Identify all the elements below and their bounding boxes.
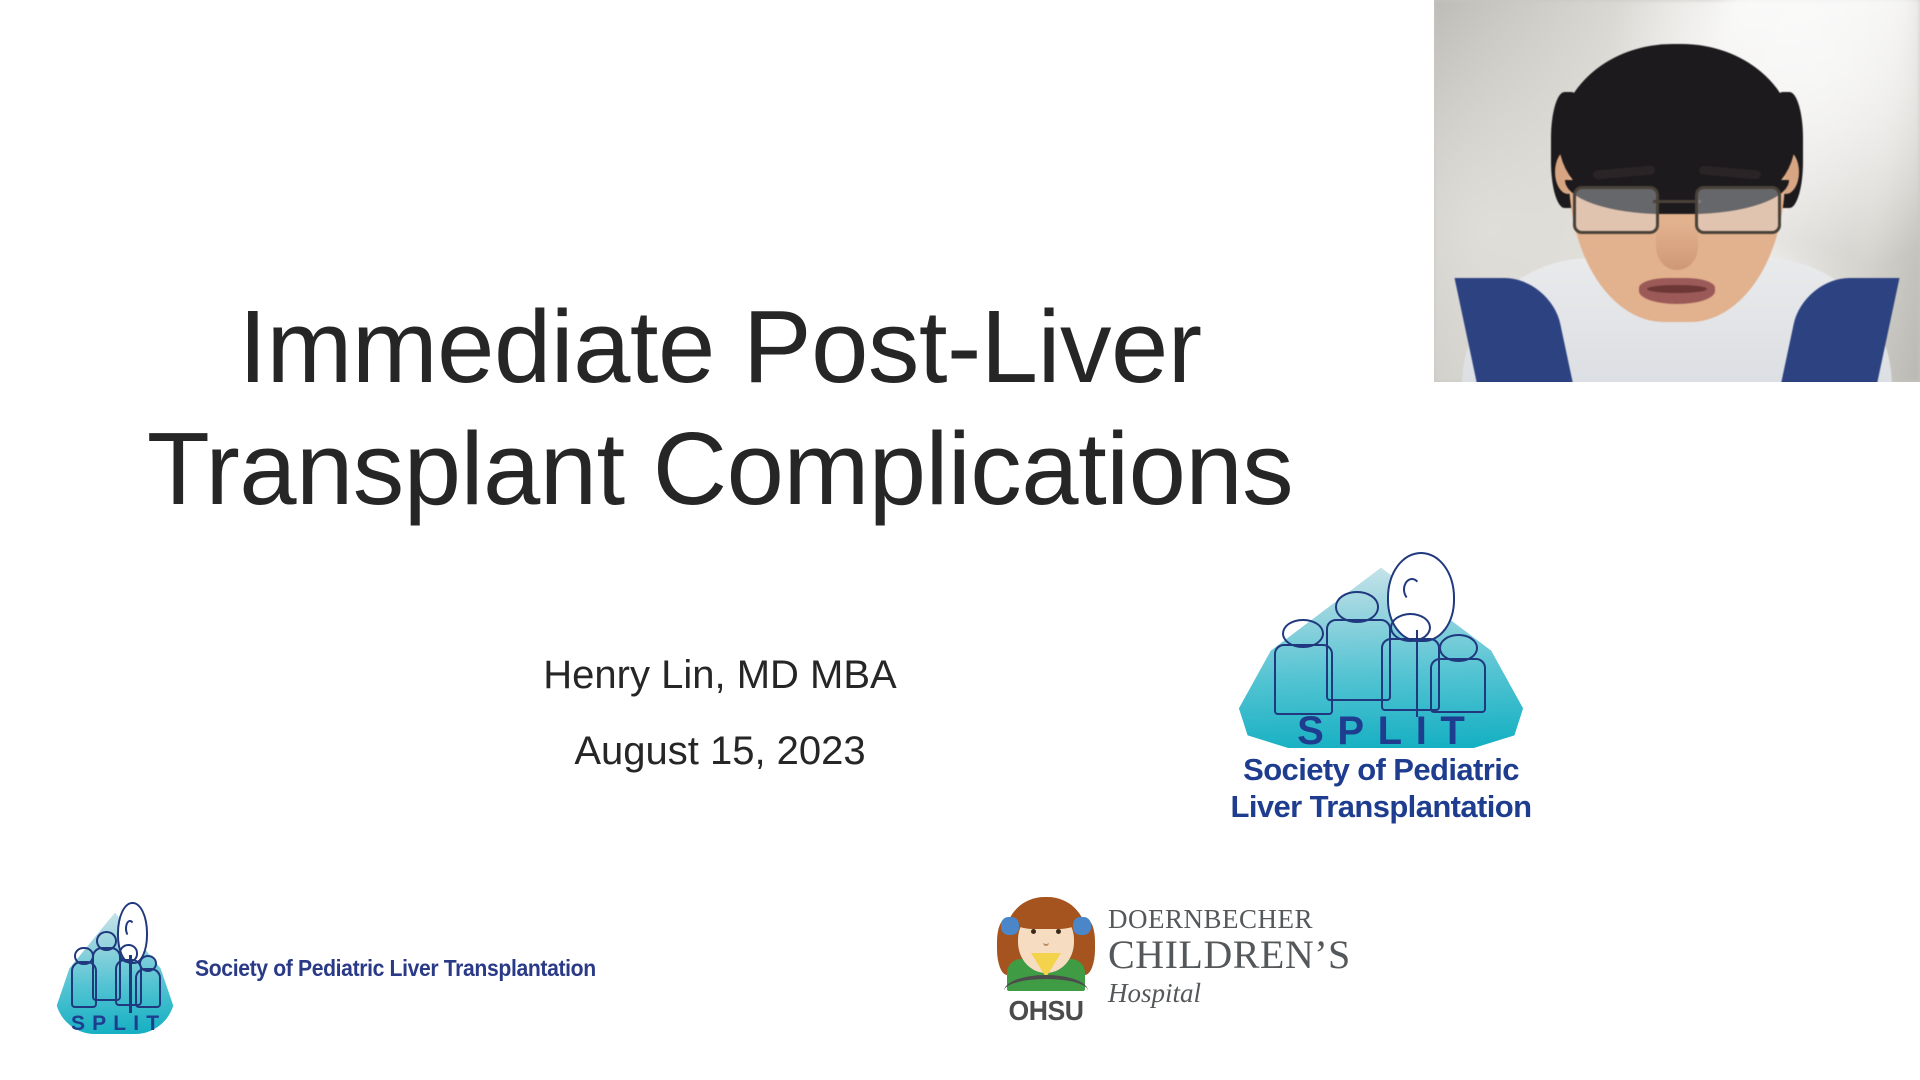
split-emblem-icon-large: SPLIT — [1236, 552, 1526, 748]
child-head-2 — [1335, 591, 1380, 622]
presenter-figure — [1434, 0, 1920, 382]
doernbecher-line-3: Hospital — [1108, 978, 1351, 1009]
child-body-4 — [1430, 658, 1486, 713]
split-acronym: SPLIT — [1236, 709, 1526, 754]
lens-right — [1695, 186, 1781, 234]
presenter-name: Henry Lin, MD MBA — [0, 645, 1440, 705]
split-acronym: SPLIT — [55, 1012, 175, 1036]
presentation-slide: Immediate Post-Liver Transplant Complica… — [0, 0, 1920, 1080]
logo-split-left: SPLIT Society of Pediatric Liver Transpl… — [55, 893, 585, 1043]
logo-split-right: SPLIT Society of Pediatric Liver Transpl… — [1228, 552, 1534, 848]
split-full-name: Society of Pediatric Liver Transplantati… — [1228, 752, 1534, 825]
girl-bangs — [1014, 903, 1078, 929]
subtitle-block: Henry Lin, MD MBA August 15, 2023 — [0, 645, 1440, 781]
split-emblem-icon: SPLIT — [55, 902, 175, 1034]
lens-left — [1573, 186, 1659, 234]
girl-eye-right — [1056, 929, 1061, 934]
nose-shape — [1656, 224, 1698, 270]
page-title: Immediate Post-Liver Transplant Complica… — [0, 286, 1440, 529]
girl-eye-left — [1031, 929, 1036, 934]
logo-ohsu-doernbecher: OHSU DOERNBECHER CHILDREN’S Hospital — [1000, 893, 1420, 1043]
ohsu-wordmark: OHSU — [1002, 995, 1089, 1027]
doernbecher-line-2: CHILDREN’S — [1108, 933, 1351, 977]
title-block: Immediate Post-Liver Transplant Complica… — [0, 286, 1440, 529]
split-tagline: Society of Pediatric Liver Transplantati… — [195, 955, 596, 982]
hair-bow-left — [1001, 917, 1019, 935]
child-body-4 — [135, 968, 161, 1008]
ohsu-emblem-icon: OHSU — [1000, 893, 1092, 1031]
glasses-bridge — [1653, 200, 1701, 203]
presenter-video-tile[interactable] — [1434, 0, 1920, 382]
child-body-1 — [1274, 644, 1333, 715]
girl-nose — [1043, 939, 1049, 946]
doernbecher-line-1: DOERNBECHER — [1108, 905, 1351, 933]
shirt-stripe-right — [1781, 278, 1900, 382]
shirt-stripe-left — [1455, 278, 1574, 382]
doernbecher-wordmark: DOERNBECHER CHILDREN’S Hospital — [1108, 893, 1351, 1009]
presentation-date: August 15, 2023 — [0, 721, 1440, 781]
mouth-shape — [1639, 278, 1715, 304]
hair-bow-right — [1073, 917, 1091, 935]
